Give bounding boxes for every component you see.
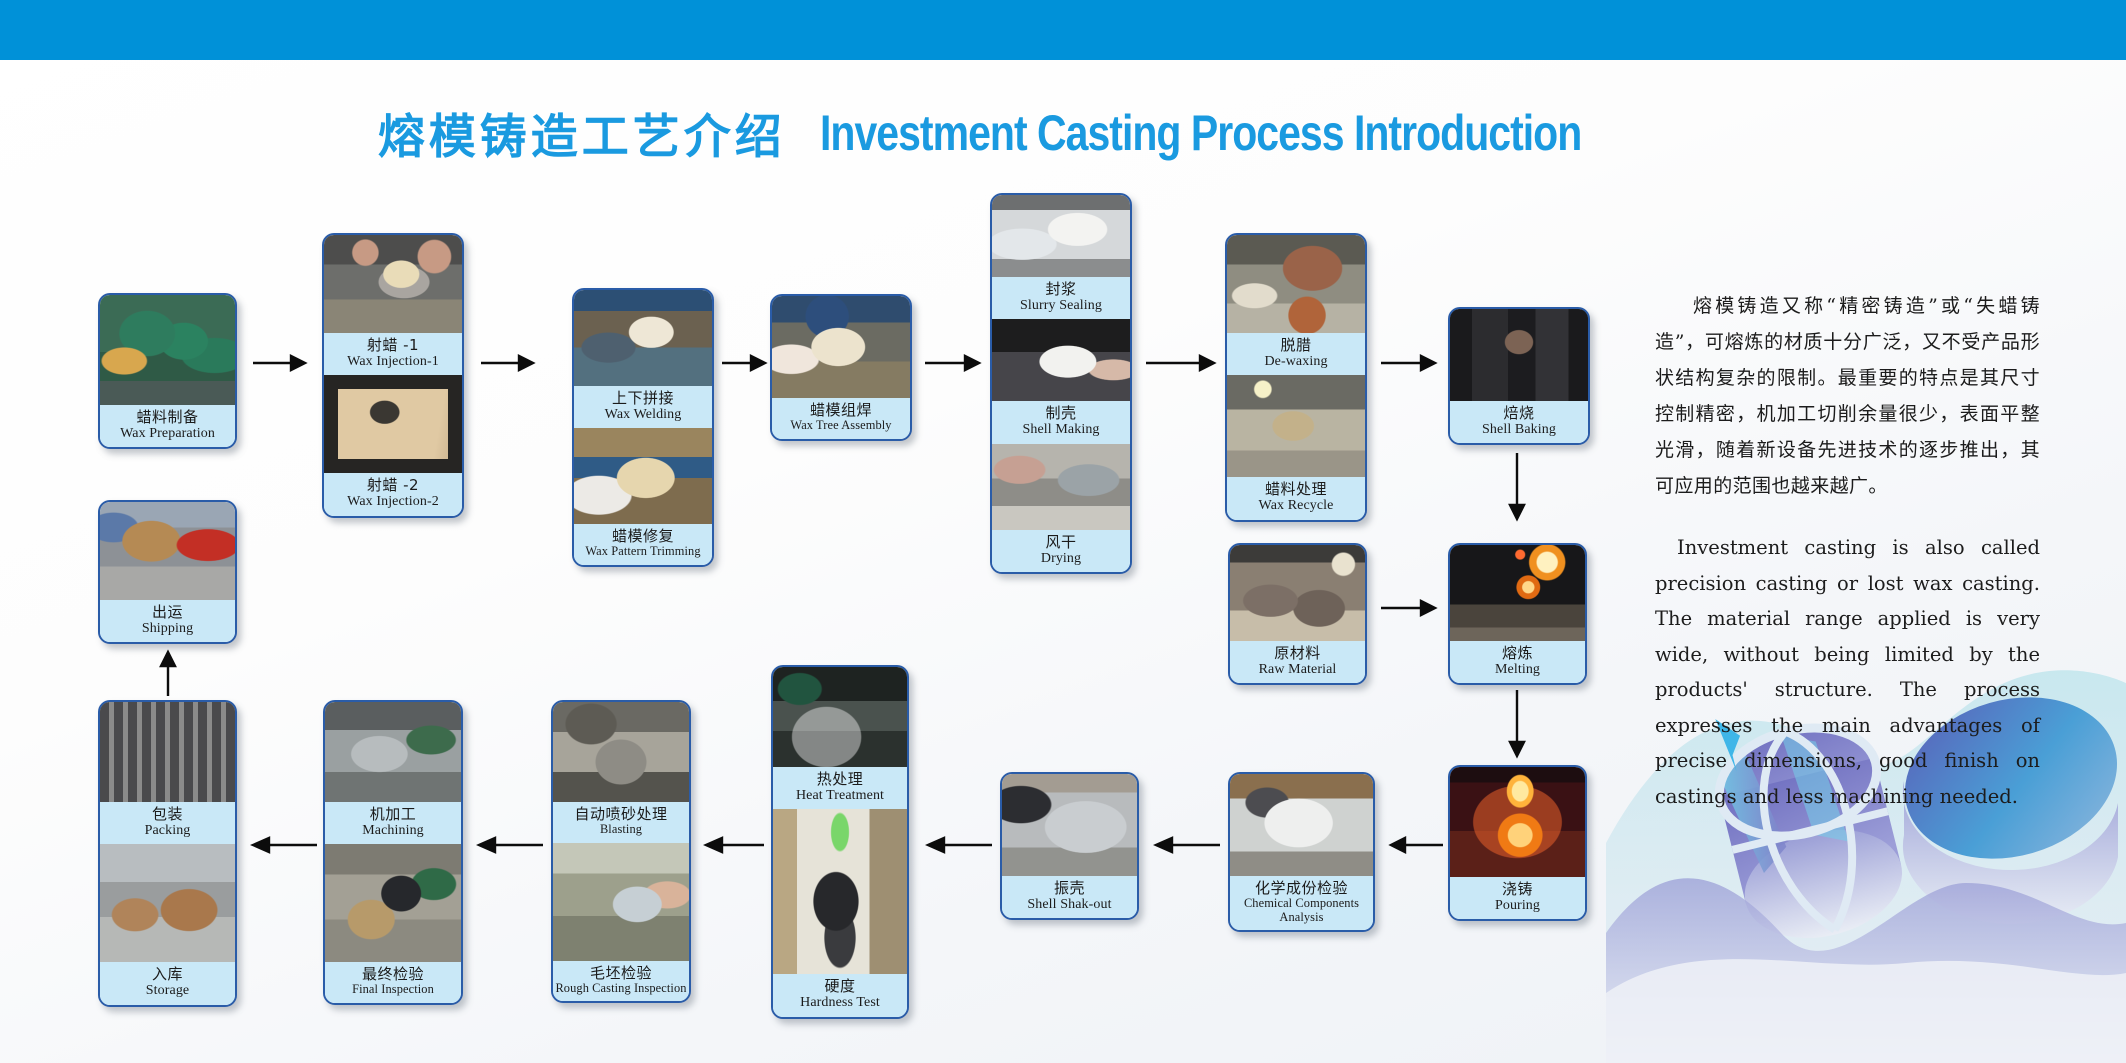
step-card-shell-baking[interactable]: 焙烧 Shell Baking (1448, 307, 1590, 445)
caption-pouring: 浇铸 Pouring (1450, 877, 1585, 919)
caption-cn: 振壳 (1004, 880, 1135, 896)
caption-heat-treatment: 热处理 Heat Treatment (773, 767, 907, 809)
caption-wax-tree-assembly: 蜡模组焊 Wax Tree Assembly (772, 398, 910, 439)
photo-wax-tree-assembly (772, 296, 910, 398)
step-card-wax-injection[interactable]: 射蜡 -1 Wax Injection-1 射蜡 -2 Wax Injectio… (322, 233, 464, 518)
photo-blasting (553, 702, 689, 802)
caption-shell-making: 制壳 Shell Making (992, 401, 1130, 443)
caption-en: Wax Welding (576, 407, 710, 422)
caption-en: Machining (327, 823, 459, 838)
caption-en: Wax Tree Assembly (774, 419, 908, 432)
caption-en: Heat Treatment (775, 788, 905, 803)
step-card-melting[interactable]: 熔炼 Melting (1448, 543, 1587, 685)
photo-chemical-analysis (1230, 774, 1373, 876)
photo-cell: 封浆 Slurry Sealing (992, 195, 1130, 319)
arrow-left-2 (1148, 834, 1220, 856)
caption-en: Shell Shak-out (1004, 897, 1135, 912)
photo-cell: 制壳 Shell Making (992, 319, 1130, 443)
caption-en: Blasting (555, 823, 687, 836)
step-card-shipping[interactable]: 出运 Shipping (98, 500, 237, 644)
photo-cell: 风干 Drying (992, 444, 1130, 572)
photo-cell: 蜡料制备 Wax Preparation (100, 295, 235, 447)
step-card-shell-shakeout[interactable]: 振壳 Shell Shak-out (1000, 772, 1139, 920)
photo-cell: 射蜡 -1 Wax Injection-1 (324, 235, 462, 375)
caption-cn: 射蜡 -2 (326, 477, 460, 493)
caption-cn: 熔炼 (1452, 645, 1583, 661)
caption-cn: 蜡料制备 (102, 409, 233, 425)
photo-de-waxing (1227, 235, 1365, 333)
photo-cell: 毛坯检验 Rough Casting Inspection (553, 843, 689, 1002)
step-card-packing[interactable]: 包装 Packing 入库 Storage (98, 700, 237, 1007)
photo-rough-casting-inspection (553, 843, 689, 961)
caption-packing: 包装 Packing (100, 802, 235, 844)
arrow-right-4 (925, 352, 983, 374)
step-card-raw-material[interactable]: 原材料 Raw Material (1228, 543, 1367, 685)
caption-cn: 原材料 (1232, 645, 1363, 661)
caption-en: De-waxing (1229, 354, 1363, 369)
caption-en: Final Inspection (327, 983, 459, 996)
caption-wax-preparation: 蜡料制备 Wax Preparation (100, 405, 235, 447)
step-card-shell-process[interactable]: 封浆 Slurry Sealing 制壳 Shell Making 风干 Dry… (990, 193, 1132, 574)
step-card-wax-welding[interactable]: 上下拼接 Wax Welding 蜡模修复 Wax Pattern Trimmi… (572, 288, 714, 567)
caption-cn: 机加工 (327, 806, 459, 822)
caption-shipping: 出运 Shipping (100, 600, 235, 642)
caption-cn: 硬度 (775, 978, 905, 994)
arrow-left-6 (247, 834, 317, 856)
caption-slurry-sealing: 封浆 Slurry Sealing (992, 277, 1130, 319)
arrow-left-5 (473, 834, 543, 856)
caption-en: Shell Making (994, 422, 1128, 437)
caption-cn: 上下拼接 (576, 390, 710, 406)
caption-cn: 蜡模组焊 (774, 402, 908, 418)
caption-cn: 蜡料处理 (1229, 481, 1363, 497)
photo-pouring (1450, 767, 1585, 877)
photo-machining (325, 702, 461, 802)
photo-cell: 射蜡 -2 Wax Injection-2 (324, 375, 462, 515)
caption-melting: 熔炼 Melting (1450, 641, 1585, 683)
arrow-left-1 (1385, 834, 1443, 856)
caption-de-waxing: 脱腊 De-waxing (1227, 333, 1365, 375)
photo-cell: 化学成份检验 Chemical Components Analysis (1230, 774, 1373, 930)
photo-cell: 熔炼 Melting (1450, 545, 1585, 683)
caption-en: Wax Preparation (102, 426, 233, 441)
caption-en: Shell Baking (1452, 422, 1586, 437)
photo-cell: 蜡模组焊 Wax Tree Assembly (772, 296, 910, 439)
caption-blasting: 自动喷砂处理 Blasting (553, 802, 689, 843)
photo-cell: 出运 Shipping (100, 502, 235, 642)
photo-cell: 焙烧 Shell Baking (1450, 309, 1588, 443)
photo-shell-shakeout (1002, 774, 1137, 876)
description-english: Investment casting is also called precis… (1655, 530, 2040, 814)
caption-wax-injection-2: 射蜡 -2 Wax Injection-2 (324, 473, 462, 515)
photo-cell: 入库 Storage (100, 844, 235, 1004)
photo-slurry-sealing (992, 195, 1130, 277)
caption-en: Raw Material (1232, 662, 1363, 677)
caption-en: Wax Injection-2 (326, 494, 460, 509)
step-card-dewaxing[interactable]: 脱腊 De-waxing 蜡料处理 Wax Recycle (1225, 233, 1367, 522)
step-card-heat-treatment[interactable]: 热处理 Heat Treatment 硬度 Hardness Test (771, 665, 909, 1019)
photo-final-inspection (325, 844, 461, 962)
caption-cn: 浇铸 (1452, 881, 1583, 897)
photo-cell: 原材料 Raw Material (1230, 545, 1365, 683)
caption-en: Shipping (102, 621, 233, 636)
arrow-right-7 (1381, 597, 1439, 619)
arrow-right-2 (481, 352, 537, 374)
caption-en: Wax Injection-1 (326, 354, 460, 369)
arrow-right-5 (1146, 352, 1218, 374)
arrow-left-4 (700, 834, 764, 856)
arrow-left-3 (920, 834, 992, 856)
photo-cell: 振壳 Shell Shak-out (1002, 774, 1137, 918)
photo-wax-injection-1 (324, 235, 462, 333)
caption-wax-injection-1: 射蜡 -1 Wax Injection-1 (324, 333, 462, 375)
photo-shipping (100, 502, 235, 600)
photo-cell: 硬度 Hardness Test (773, 809, 907, 1016)
photo-cell: 上下拼接 Wax Welding (574, 290, 712, 428)
caption-rough-casting-inspection: 毛坯检验 Rough Casting Inspection (553, 961, 689, 1002)
photo-cell: 自动喷砂处理 Blasting (553, 702, 689, 843)
caption-shell-shakeout: 振壳 Shell Shak-out (1002, 876, 1137, 918)
caption-cn: 毛坯检验 (555, 965, 687, 981)
step-card-chemical-analysis[interactable]: 化学成份检验 Chemical Components Analysis (1228, 772, 1375, 932)
caption-wax-welding: 上下拼接 Wax Welding (574, 386, 712, 428)
caption-en: Packing (102, 823, 233, 838)
photo-shell-baking (1450, 309, 1588, 401)
caption-en: Wax Recycle (1229, 498, 1363, 513)
caption-wax-recycle: 蜡料处理 Wax Recycle (1227, 477, 1365, 519)
photo-wax-pattern-trimming (574, 428, 712, 524)
photo-wax-recycle (1227, 375, 1365, 477)
caption-cn: 射蜡 -1 (326, 337, 460, 353)
photo-melting (1450, 545, 1585, 641)
photo-wax-injection-2 (324, 375, 462, 473)
caption-cn: 最终检验 (327, 966, 459, 982)
photo-cell: 浇铸 Pouring (1450, 767, 1585, 919)
step-card-machining[interactable]: 机加工 Machining 最终检验 Final Inspection (323, 700, 463, 1005)
photo-cell: 最终检验 Final Inspection (325, 844, 461, 1003)
caption-chemical-analysis: 化学成份检验 Chemical Components Analysis (1230, 876, 1373, 930)
photo-cell: 蜡模修复 Wax Pattern Trimming (574, 428, 712, 565)
arrow-right-3 (722, 352, 768, 374)
arrow-down-2 (1506, 690, 1528, 760)
caption-wax-pattern-trimming: 蜡模修复 Wax Pattern Trimming (574, 524, 712, 565)
caption-en: Drying (994, 551, 1128, 566)
photo-cell: 蜡料处理 Wax Recycle (1227, 375, 1365, 519)
caption-storage: 入库 Storage (100, 962, 235, 1004)
caption-cn: 脱腊 (1229, 337, 1363, 353)
caption-cn: 焙烧 (1452, 405, 1586, 421)
photo-cell: 包装 Packing (100, 702, 235, 844)
photo-packing (100, 702, 235, 802)
caption-cn: 包装 (102, 806, 233, 822)
caption-cn: 出运 (102, 604, 233, 620)
caption-cn: 热处理 (775, 771, 905, 787)
caption-machining: 机加工 Machining (325, 802, 461, 844)
step-card-blasting[interactable]: 自动喷砂处理 Blasting 毛坯检验 Rough Casting Inspe… (551, 700, 691, 1003)
description-panel: 熔模铸造又称“精密铸造”或“失蜡铸造”，可熔炼的材质十分广泛，又不受产品形状结构… (1655, 288, 2040, 814)
photo-shell-making (992, 319, 1130, 401)
caption-en: Slurry Sealing (994, 298, 1128, 313)
caption-en: Storage (102, 983, 233, 998)
caption-en: Hardness Test (775, 995, 905, 1010)
photo-hardness-test (773, 809, 907, 974)
caption-en: Rough Casting Inspection (555, 982, 687, 995)
caption-cn: 入库 (102, 966, 233, 982)
caption-en: Melting (1452, 662, 1583, 677)
arrow-down-1 (1506, 453, 1528, 523)
photo-cell: 热处理 Heat Treatment (773, 667, 907, 809)
photo-cell: 脱腊 De-waxing (1227, 235, 1365, 375)
caption-en: Wax Pattern Trimming (576, 545, 710, 558)
photo-wax-preparation (100, 295, 235, 405)
caption-shell-baking: 焙烧 Shell Baking (1450, 401, 1588, 443)
caption-en: Chemical Components Analysis (1232, 897, 1371, 924)
photo-wax-welding (574, 290, 712, 386)
caption-cn: 制壳 (994, 405, 1128, 421)
caption-final-inspection: 最终检验 Final Inspection (325, 962, 461, 1003)
arrow-right-1 (253, 352, 309, 374)
caption-raw-material: 原材料 Raw Material (1230, 641, 1365, 683)
caption-cn: 蜡模修复 (576, 528, 710, 544)
caption-cn: 封浆 (994, 281, 1128, 297)
caption-cn: 自动喷砂处理 (555, 806, 687, 822)
caption-drying: 风干 Drying (992, 530, 1130, 572)
step-card-wax-preparation[interactable]: 蜡料制备 Wax Preparation (98, 293, 237, 449)
caption-cn: 化学成份检验 (1232, 880, 1371, 896)
photo-drying (992, 444, 1130, 530)
step-card-wax-tree-assembly[interactable]: 蜡模组焊 Wax Tree Assembly (770, 294, 912, 441)
caption-hardness-test: 硬度 Hardness Test (773, 974, 907, 1016)
photo-heat-treatment (773, 667, 907, 767)
photo-cell: 机加工 Machining (325, 702, 461, 844)
description-chinese: 熔模铸造又称“精密铸造”或“失蜡铸造”，可熔炼的材质十分广泛，又不受产品形状结构… (1655, 288, 2040, 504)
photo-storage (100, 844, 235, 962)
caption-cn: 风干 (994, 534, 1128, 550)
arrow-right-6 (1381, 352, 1439, 374)
arrow-up-1 (157, 648, 179, 696)
photo-raw-material (1230, 545, 1365, 641)
caption-en: Pouring (1452, 898, 1583, 913)
step-card-pouring[interactable]: 浇铸 Pouring (1448, 765, 1587, 921)
